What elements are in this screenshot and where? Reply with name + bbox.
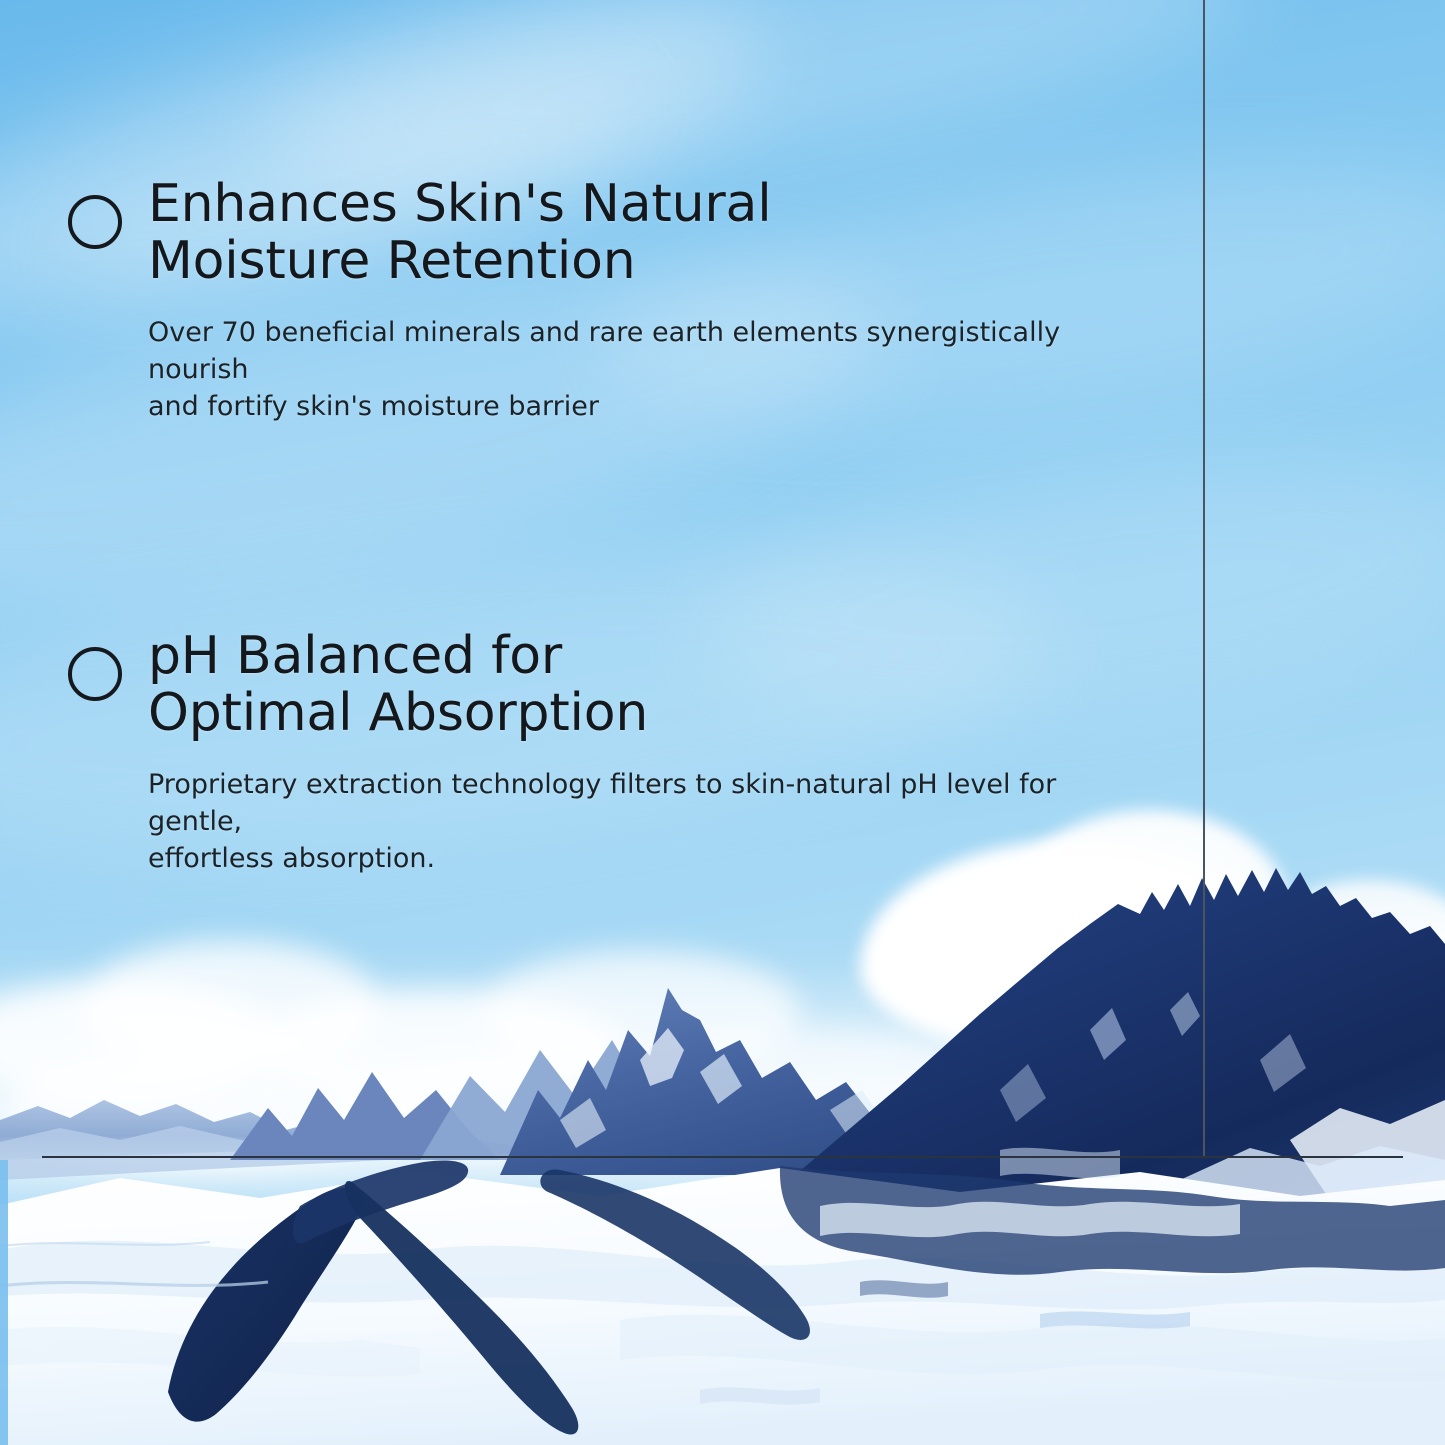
snow-scallop [820,1202,1240,1237]
feature-1-heading-row: Enhances Skin's Natural Moisture Retenti… [0,176,1150,290]
feature-2-heading-row: pH Balanced for Optimal Absorption [0,628,1150,742]
vertical-guide-rule [1203,0,1205,1158]
circle-outline-icon [68,647,122,701]
left-edge-sky-sliver [0,1160,8,1445]
feature-block-1: Enhances Skin's Natural Moisture Retenti… [0,176,1150,425]
feature-1-description: Over 70 beneficial minerals and rare ear… [0,314,1150,425]
horizontal-guide-rule [42,1156,1403,1158]
snow-scallop [1000,1148,1120,1179]
feature-2-title: pH Balanced for Optimal Absorption [148,628,1150,742]
feature-1-title: Enhances Skin's Natural Moisture Retenti… [148,176,1150,290]
circle-outline-icon [68,195,122,249]
product-feature-banner: Enhances Skin's Natural Moisture Retenti… [0,0,1445,1445]
feature-block-2: pH Balanced for Optimal Absorption Propr… [0,628,1150,877]
feature-2-description: Proprietary extraction technology filter… [0,766,1150,877]
